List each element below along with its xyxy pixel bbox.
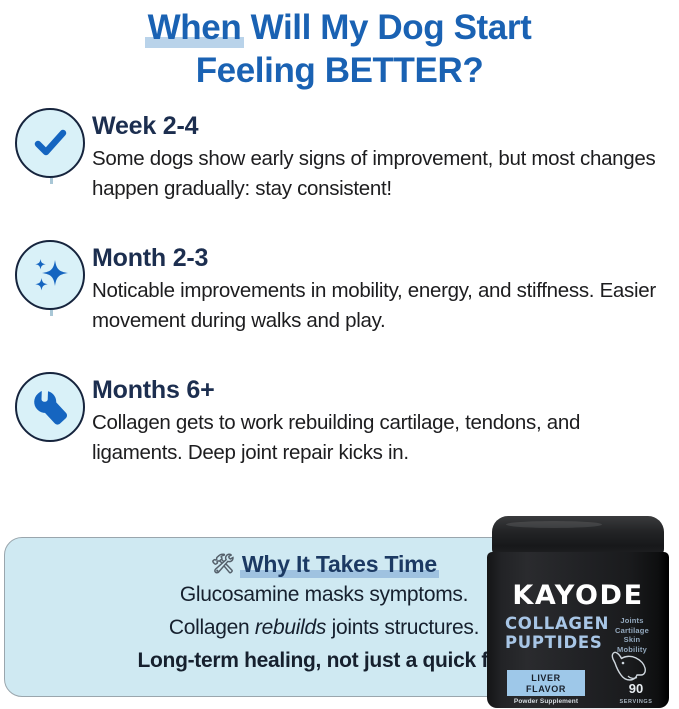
why-line2-italic: rebuilds: [255, 616, 326, 639]
timeline-connector: [50, 178, 53, 184]
jar-subtitle: COLLAGEN PUPTIDES: [505, 614, 609, 652]
jar-subtitle-line-1: COLLAGEN: [505, 614, 609, 633]
timeline: Week 2-4 Some dogs show early signs of i…: [0, 108, 679, 484]
jar-flavor-line-2: FLAVOR: [507, 684, 585, 695]
check-circle-icon: [15, 108, 85, 178]
timeline-heading: Week 2-4: [92, 110, 673, 142]
jar-servings-count: 90: [629, 681, 643, 696]
timeline-heading: Months 6+: [92, 374, 673, 406]
title-line-1-rest: Will My Dog Start: [241, 8, 531, 47]
sparkles-icon: [15, 240, 85, 310]
dog-head-icon: [607, 650, 651, 684]
timeline-icon-column: [8, 372, 92, 442]
timeline-item-months-6-plus: Months 6+ Collagen gets to work rebuildi…: [8, 372, 679, 484]
jar-flavor-line-1: LIVER: [507, 673, 585, 684]
title-line-2: Feeling BETTER?: [0, 49, 679, 92]
title-highlight-text: When: [148, 8, 242, 47]
timeline-item-month-2-3: Month 2-3 Noticable improvements in mobi…: [8, 240, 679, 372]
jar-subtitle-line-2: PUPTIDES: [505, 633, 609, 652]
product-jar-image: KAYODE COLLAGEN PUPTIDES Joints Cartilag…: [487, 516, 669, 708]
timeline-body: Collagen gets to work rebuilding cartila…: [92, 408, 673, 468]
wrench-icon: [15, 372, 85, 442]
timeline-text-column: Week 2-4 Some dogs show early signs of i…: [92, 108, 679, 204]
page-title: When Will My Dog Start Feeling BETTER?: [0, 0, 679, 92]
timeline-text-column: Month 2-3 Noticable improvements in mobi…: [92, 240, 679, 336]
timeline-connector: [50, 310, 53, 316]
jar-benefit-skin: Skin: [607, 635, 657, 645]
timeline-body: Some dogs show early signs of improvemen…: [92, 144, 673, 204]
jar-brand-label: KAYODE: [487, 580, 669, 611]
jar-servings-label: SERVINGS: [615, 696, 657, 708]
why-heading-highlight: Why It Takes Time: [242, 551, 437, 578]
jar-lid: [492, 516, 664, 556]
why-heading-text: Why It Takes Time: [242, 551, 437, 577]
timeline-item-week-2-4: Week 2-4 Some dogs show early signs of i…: [8, 108, 679, 240]
why-line2-before: Collagen: [169, 616, 255, 639]
timeline-body: Noticable improvements in mobility, ener…: [92, 276, 673, 336]
timeline-heading: Month 2-3: [92, 242, 673, 274]
title-line-1: When Will My Dog Start: [0, 6, 679, 49]
timeline-icon-column: [8, 240, 92, 310]
jar-body: KAYODE COLLAGEN PUPTIDES Joints Cartilag…: [487, 552, 669, 708]
jar-benefits-list: Joints Cartilage Skin Mobility: [607, 616, 657, 654]
jar-servings: 90 SERVINGS NET WT 300g: [615, 682, 657, 708]
timeline-icon-column: [8, 108, 92, 178]
jar-powder-label: Powder Supplement: [507, 698, 585, 705]
title-highlight-word: When: [148, 6, 242, 49]
why-line2-after: joints structures.: [326, 616, 479, 639]
jar-benefit-cartilage: Cartilage: [607, 626, 657, 636]
hammer-and-wrench-icon: 🛠: [211, 554, 235, 575]
jar-benefit-joints: Joints: [607, 616, 657, 626]
timeline-text-column: Months 6+ Collagen gets to work rebuildi…: [92, 372, 679, 468]
jar-flavor-badge: LIVER FLAVOR: [507, 670, 585, 696]
